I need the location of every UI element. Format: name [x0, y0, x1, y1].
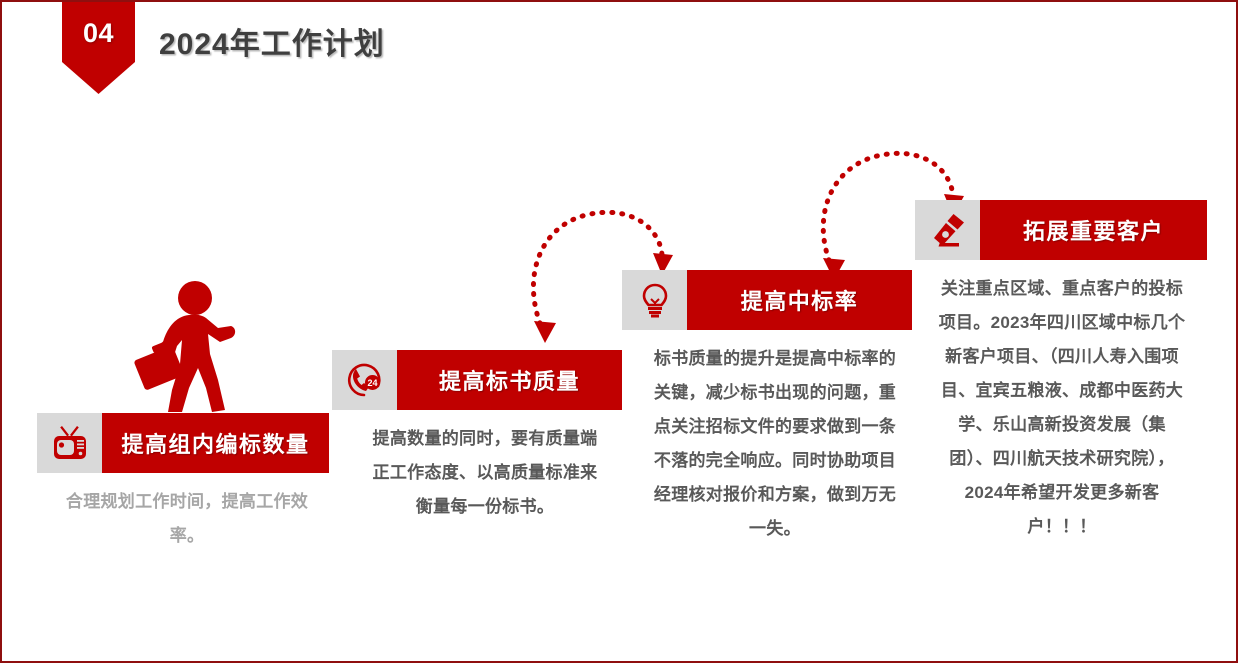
- step-2-title-bar: 提高标书质量: [397, 350, 622, 410]
- lightbulb-icon: [622, 270, 687, 330]
- slide-canvas: 04 2024年工作计划: [0, 0, 1238, 663]
- step-3-title-bar: 提高中标率: [687, 270, 912, 330]
- step-2-title: 提高标书质量: [439, 364, 580, 396]
- step-4-title-bar: 拓展重要客户: [980, 200, 1207, 260]
- phone-24h-support-icon: 24: [332, 350, 397, 410]
- step-1-title-bar: 提高组内编标数量: [102, 413, 329, 473]
- section-number-banner: 04: [62, 0, 135, 94]
- running-businessman-icon: [132, 280, 242, 420]
- svg-text:24: 24: [367, 378, 377, 388]
- step-1-title: 提高组内编标数量: [121, 427, 309, 459]
- section-number: 04: [62, 18, 135, 49]
- step-2-body: 提高数量的同时，要有质量端正工作态度、以高质量标准来衡量每一份标书。: [364, 422, 606, 524]
- fountain-pen-nib-icon: [915, 200, 980, 260]
- step-1-header: 提高组内编标数量: [37, 413, 329, 473]
- step-3-body: 标书质量的提升是提高中标率的关键，减少标书出现的问题，重点关注招标文件的要求做到…: [652, 342, 898, 546]
- step-3-header: 提高中标率: [622, 270, 912, 330]
- television-icon: [37, 413, 102, 473]
- step-4-header: 拓展重要客户: [915, 200, 1207, 260]
- step-1-body: 合理规划工作时间，提高工作效率。: [62, 485, 312, 553]
- step-3-title: 提高中标率: [741, 284, 859, 316]
- step-4-body: 关注重点区域、重点客户的投标项目。2023年四川区域中标几个新客户项目、（四川人…: [937, 272, 1187, 544]
- step-4-title: 拓展重要客户: [1023, 214, 1164, 246]
- page-title: 2024年工作计划: [159, 19, 385, 63]
- step-2-header: 24 提高标书质量: [332, 350, 622, 410]
